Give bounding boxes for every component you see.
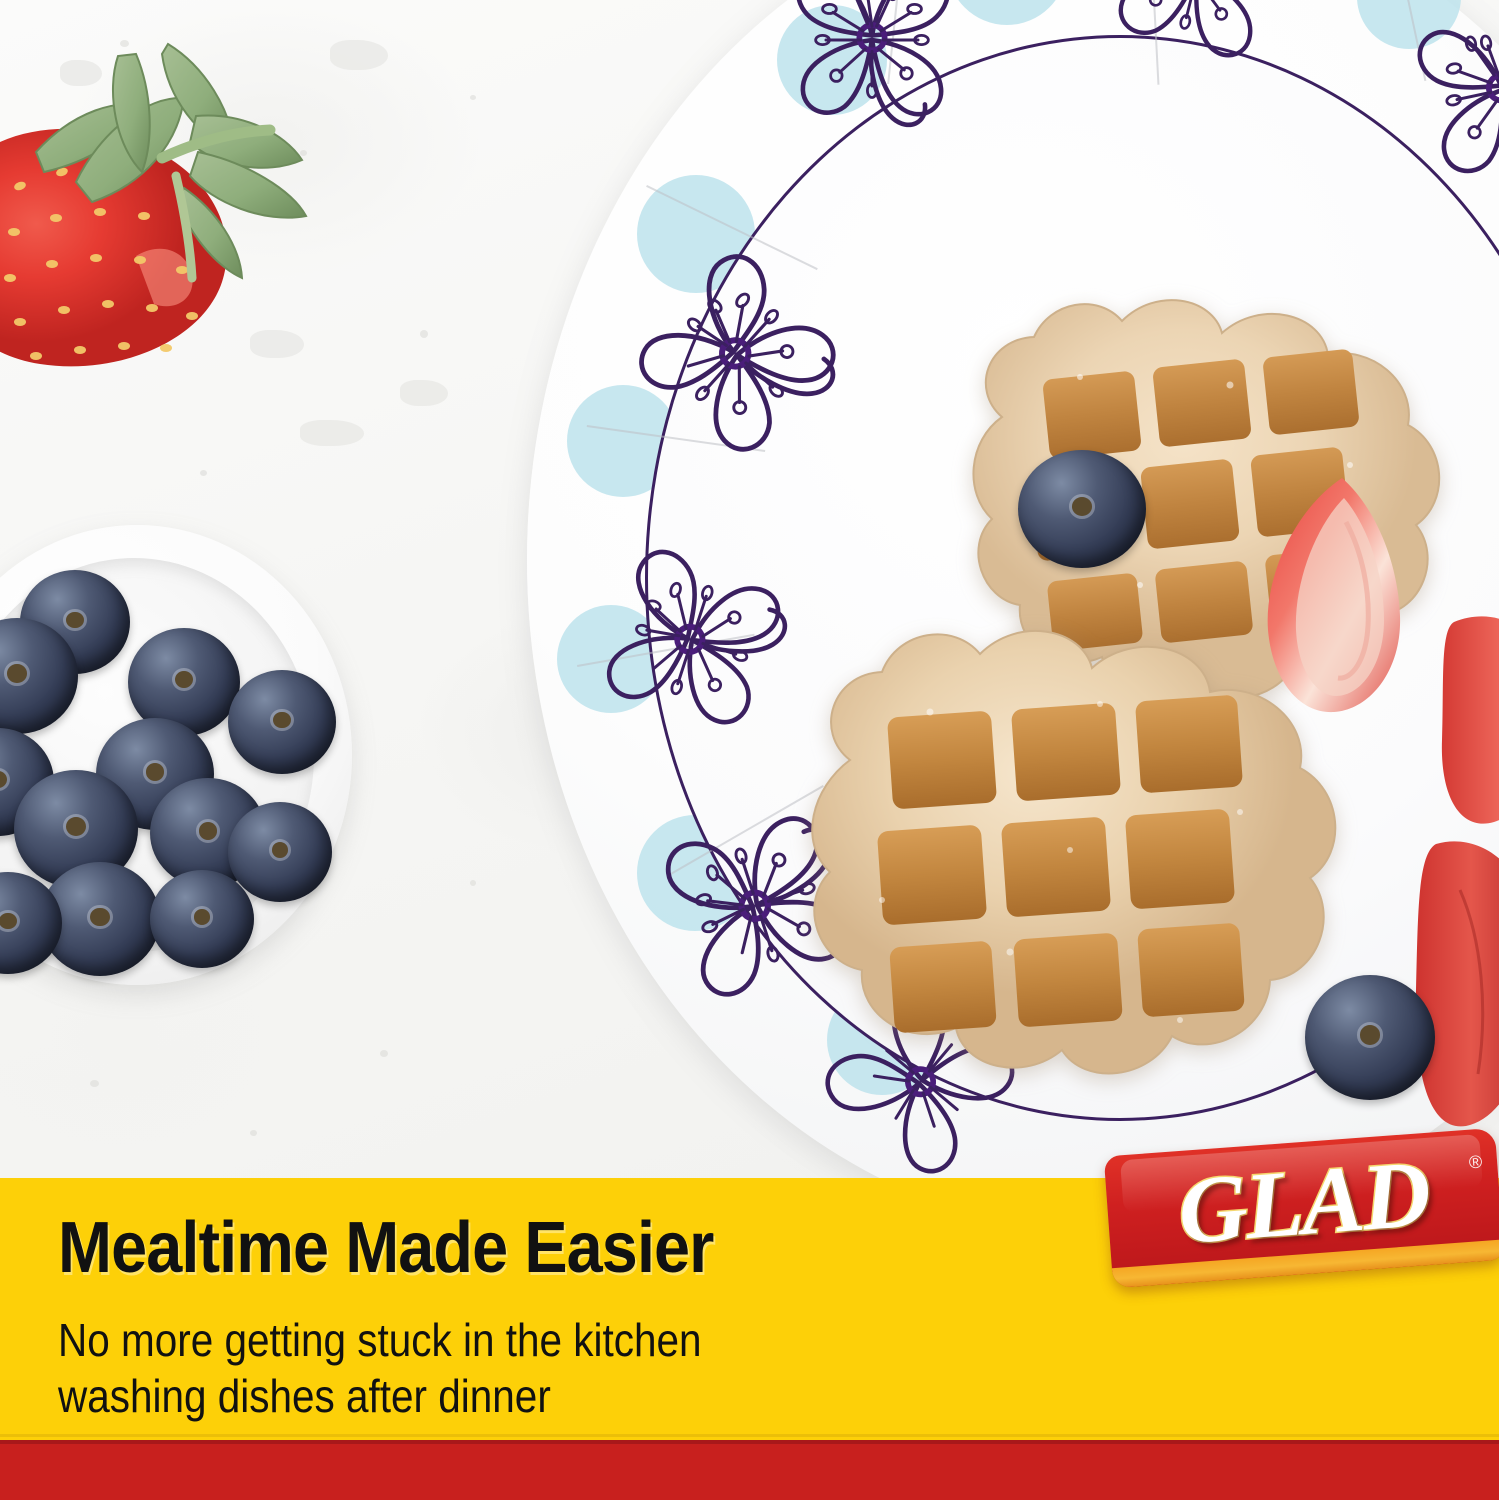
strawberry-slice-right-lower: [1412, 830, 1499, 1130]
registered-trademark-icon: ®: [1468, 1152, 1483, 1174]
glad-logo: GLAD ®: [1108, 1142, 1499, 1300]
counter-flake: [400, 380, 448, 406]
counter-speckle: [200, 470, 207, 476]
subheadline-line-1: No more getting stuck in the kitchen: [58, 1312, 702, 1368]
banner-bottom-rule: [0, 1434, 1499, 1437]
counter-speckle: [470, 95, 476, 100]
blueberry-on-plate-lower: [1305, 975, 1435, 1100]
subheadline: No more getting stuck in the kitchen was…: [58, 1312, 702, 1424]
glad-wordmark: GLAD: [1104, 1128, 1499, 1288]
footer-bar: [0, 1440, 1499, 1500]
footer-bar-top-edge: [0, 1440, 1499, 1444]
blueberry: [228, 670, 336, 774]
advertisement-root: Mealtime Made Easier No more getting stu…: [0, 0, 1499, 1500]
blueberry: [228, 802, 332, 902]
strawberry-slice-on-waffle: [1242, 470, 1427, 720]
counter-speckle: [470, 880, 476, 886]
counter-speckle: [90, 1080, 99, 1087]
product-lifestyle-photo: [0, 0, 1499, 1180]
counter-speckle: [420, 330, 428, 338]
blueberry: [150, 870, 254, 968]
headline: Mealtime Made Easier: [58, 1212, 714, 1284]
strawberry-whole: [0, 20, 380, 390]
blueberry-on-waffle: [1018, 450, 1146, 568]
counter-speckle: [250, 1130, 257, 1136]
strawberry-slice-right-upper: [1440, 600, 1499, 830]
glad-wordmark-text: GLAD: [1175, 1145, 1432, 1258]
counter-speckle: [380, 1050, 388, 1057]
plate-flower-motif: [757, 0, 987, 155]
subheadline-line-2: washing dishes after dinner: [58, 1368, 702, 1424]
counter-flake: [300, 420, 364, 446]
